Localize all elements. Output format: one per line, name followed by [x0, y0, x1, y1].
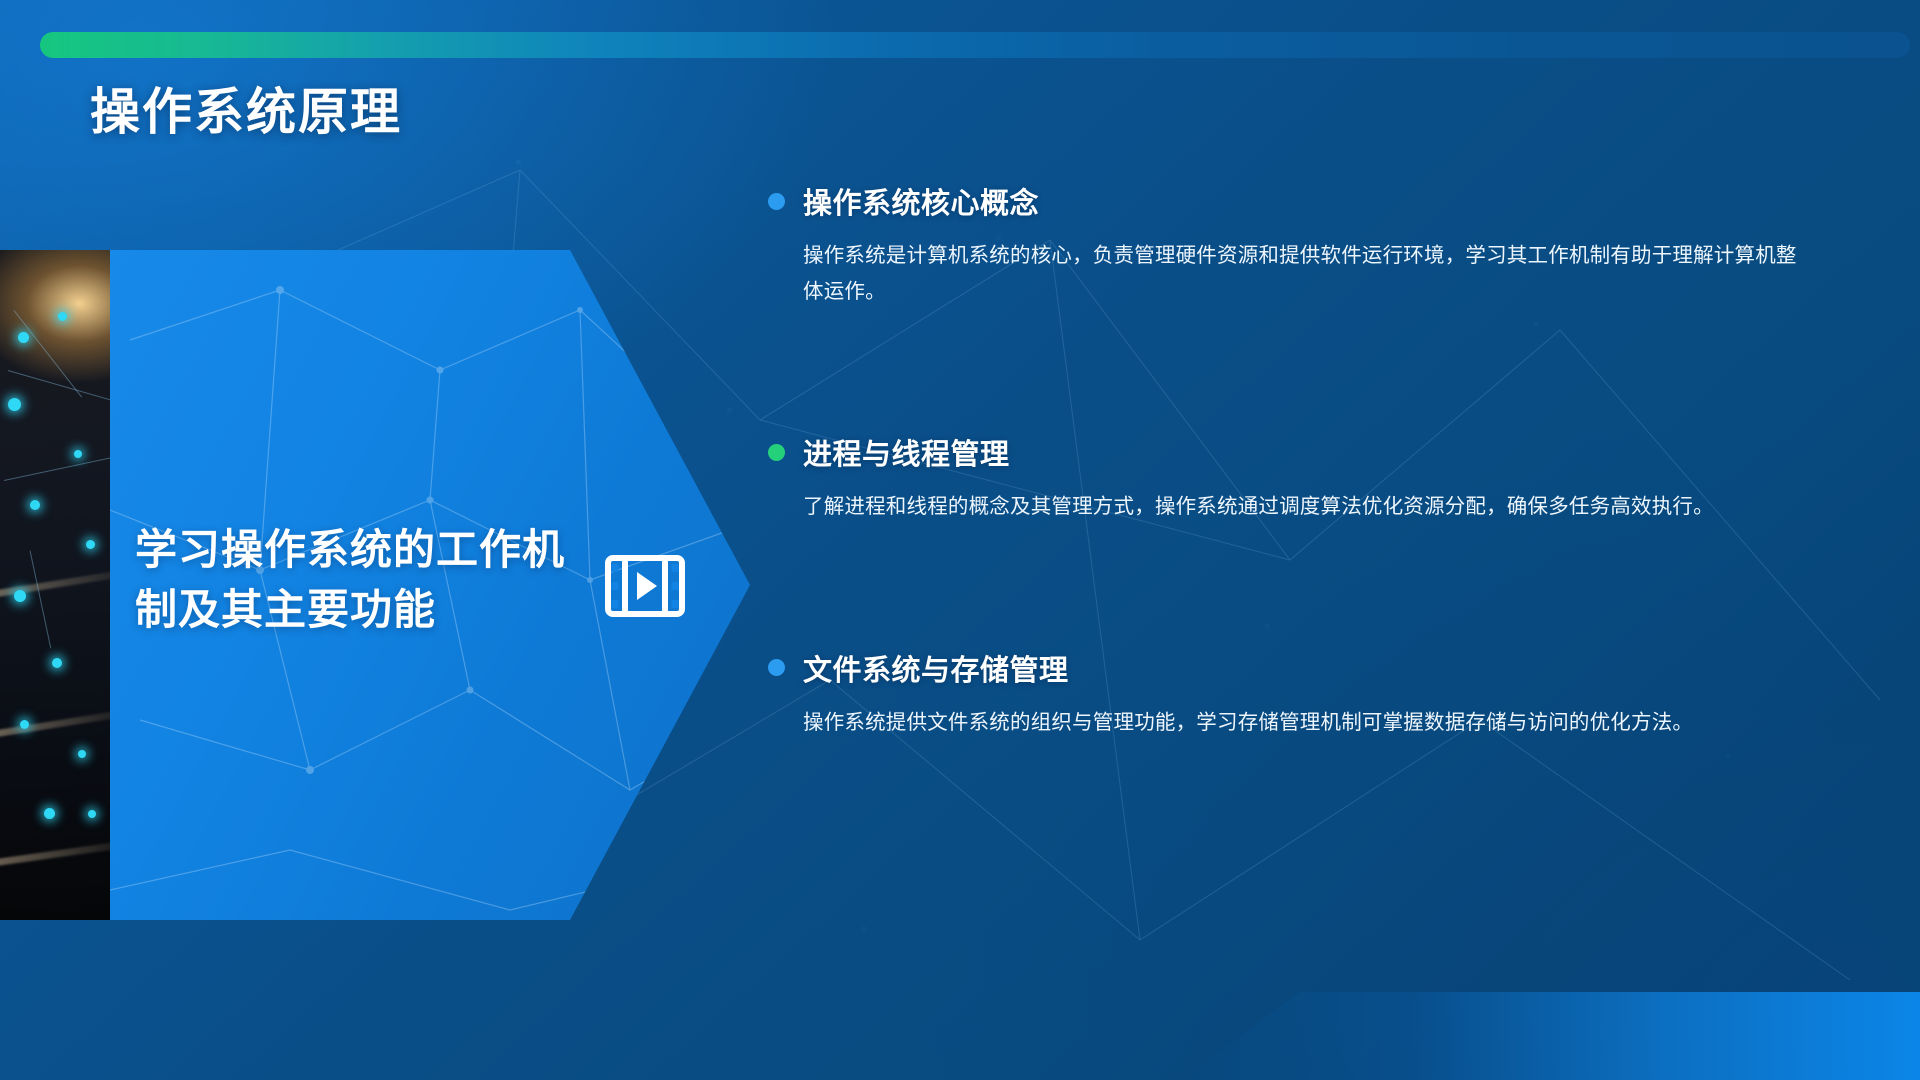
bullet-icon: [768, 659, 785, 676]
list-item: 进程与线程管理 了解进程和线程的概念及其管理方式，操作系统通过调度算法优化资源分…: [768, 431, 1828, 525]
content-list: 操作系统核心概念 操作系统是计算机系统的核心，负责管理硬件资源和提供软件运行环境…: [768, 180, 1828, 741]
item-header: 操作系统核心概念: [768, 180, 1828, 222]
item-body: 操作系统提供文件系统的组织与管理功能，学习存储管理机制可掌握数据存储与访问的优化…: [803, 705, 1813, 741]
item-title: 操作系统核心概念: [803, 180, 1039, 222]
item-header: 进程与线程管理: [768, 431, 1828, 473]
film-play-icon: [605, 555, 685, 617]
slide-root: 操作系统原理: [0, 0, 1920, 1080]
item-body: 操作系统是计算机系统的核心，负责管理硬件资源和提供软件运行环境，学习其工作机制有…: [803, 238, 1813, 309]
top-accent-bar: [40, 32, 1910, 58]
list-item: 文件系统与存储管理 操作系统提供文件系统的组织与管理功能，学习存储管理机制可掌握…: [768, 647, 1828, 741]
item-header: 文件系统与存储管理: [768, 647, 1828, 689]
item-body: 了解进程和线程的概念及其管理方式，操作系统通过调度算法优化资源分配，确保多任务高…: [803, 489, 1813, 525]
bullet-icon: [768, 444, 785, 461]
decorative-photo-strip: [0, 250, 110, 920]
item-title: 进程与线程管理: [803, 431, 1010, 473]
page-title: 操作系统原理: [90, 72, 402, 144]
bullet-icon: [768, 193, 785, 210]
corner-accent-band: [1180, 992, 1920, 1080]
list-item: 操作系统核心概念 操作系统是计算机系统的核心，负责管理硬件资源和提供软件运行环境…: [768, 180, 1828, 309]
item-title: 文件系统与存储管理: [803, 647, 1069, 689]
banner-headline: 学习操作系统的工作机制及其主要功能: [135, 520, 595, 639]
